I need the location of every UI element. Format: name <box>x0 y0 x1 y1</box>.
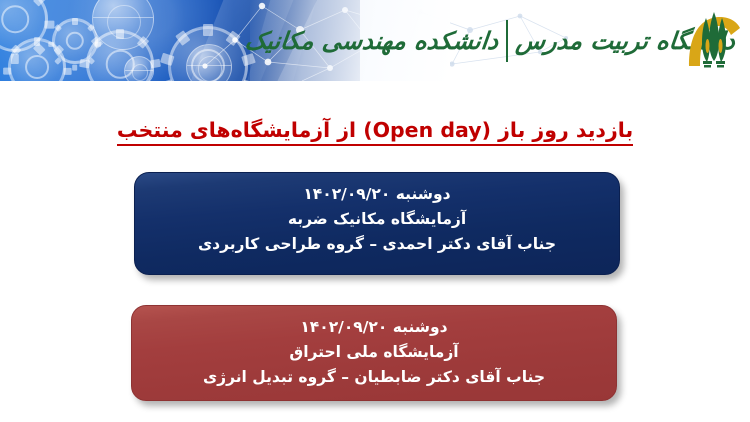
brand-separator <box>506 20 508 62</box>
event-host: جناب آقای دکتر احمدی – گروه طراحی کاربرد… <box>153 232 601 257</box>
event-card-impact-mechanics[interactable]: دوشنبه ۱۴۰۲/۰۹/۲۰ آزمایشگاه مکانیک ضربه … <box>134 172 620 275</box>
event-date: دوشنبه ۱۴۰۲/۰۹/۲۰ <box>150 315 598 340</box>
page-header-banner: دانشگاه تربیت مدرس دانشکده مهندسی مکانیک <box>0 0 750 81</box>
event-lab-name: آزمایشگاه ملی احتراق <box>150 340 598 365</box>
event-date: دوشنبه ۱۴۰۲/۰۹/۲۰ <box>153 182 601 207</box>
event-lab-name: آزمایشگاه مکانیک ضربه <box>153 207 601 232</box>
event-host: جناب آقای دکتر ضابطیان – گروه تبدیل انرژ… <box>150 365 598 390</box>
event-card-national-combustion[interactable]: دوشنبه ۱۴۰۲/۰۹/۲۰ آزمایشگاه ملی احتراق ج… <box>131 305 617 401</box>
faculty-name: دانشکده مهندسی مکانیک <box>244 29 500 53</box>
page-title-text: بازدید روز باز (Open day) از آزمایشگاه‌ه… <box>117 118 633 146</box>
page-title: بازدید روز باز (Open day) از آزمایشگاه‌ه… <box>0 118 750 144</box>
header-brand-text: دانشگاه تربیت مدرس دانشکده مهندسی مکانیک <box>245 6 685 76</box>
university-logo-icon <box>686 8 742 70</box>
